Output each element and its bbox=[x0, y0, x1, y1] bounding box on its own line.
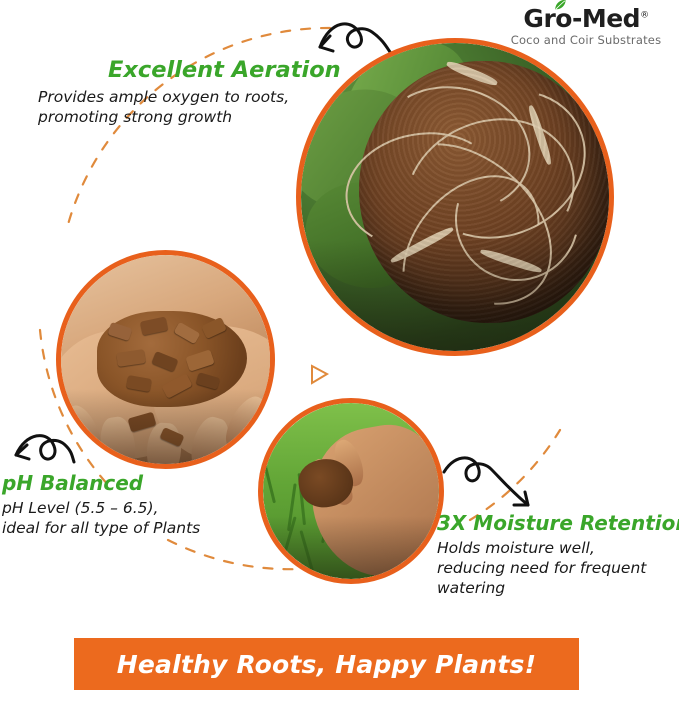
leaf-icon bbox=[553, 0, 567, 12]
feature-ph: pH Balanced pH Level (5.5 – 6.5), ideal … bbox=[2, 472, 252, 539]
feature-ph-heading: pH Balanced bbox=[2, 472, 252, 495]
logo-registered-mark: ® bbox=[640, 11, 649, 21]
infographic-canvas: Gro-Med® Coco and Coir Substrates bbox=[0, 0, 679, 707]
photo-vignette bbox=[263, 516, 439, 579]
feature-moisture-body: Holds moisture well, reducing need for f… bbox=[437, 539, 675, 598]
bottom-banner: Healthy Roots, Happy Plants! bbox=[74, 638, 579, 690]
logo-wordmark: Gro-Med® bbox=[523, 6, 648, 31]
feature-aeration: Excellent Aeration Provides ample oxygen… bbox=[38, 58, 358, 128]
hand-holding-coco-block-on-grass-photo bbox=[258, 398, 444, 584]
brand-logo: Gro-Med® Coco and Coir Substrates bbox=[501, 6, 671, 47]
feature-ph-body: pH Level (5.5 – 6.5), ideal for all type… bbox=[2, 499, 252, 539]
photo-vignette bbox=[61, 389, 270, 464]
feature-moisture-heading: 3X Moisture Retention bbox=[437, 512, 675, 535]
coco-chips-in-hands-photo bbox=[56, 250, 275, 469]
grass-photo-inner bbox=[263, 403, 439, 579]
feature-moisture: 3X Moisture Retention Holds moisture wel… bbox=[437, 512, 675, 598]
bottom-banner-text: Healthy Roots, Happy Plants! bbox=[117, 650, 536, 679]
feature-aeration-body: Provides ample oxygen to roots, promotin… bbox=[38, 88, 358, 128]
arrow-right-icon bbox=[444, 458, 528, 505]
photo-vignette bbox=[301, 240, 609, 351]
feature-aeration-heading: Excellent Aeration bbox=[108, 58, 358, 84]
logo-name: Gro-Med bbox=[523, 4, 640, 33]
coco-chips-photo-inner bbox=[61, 255, 270, 464]
